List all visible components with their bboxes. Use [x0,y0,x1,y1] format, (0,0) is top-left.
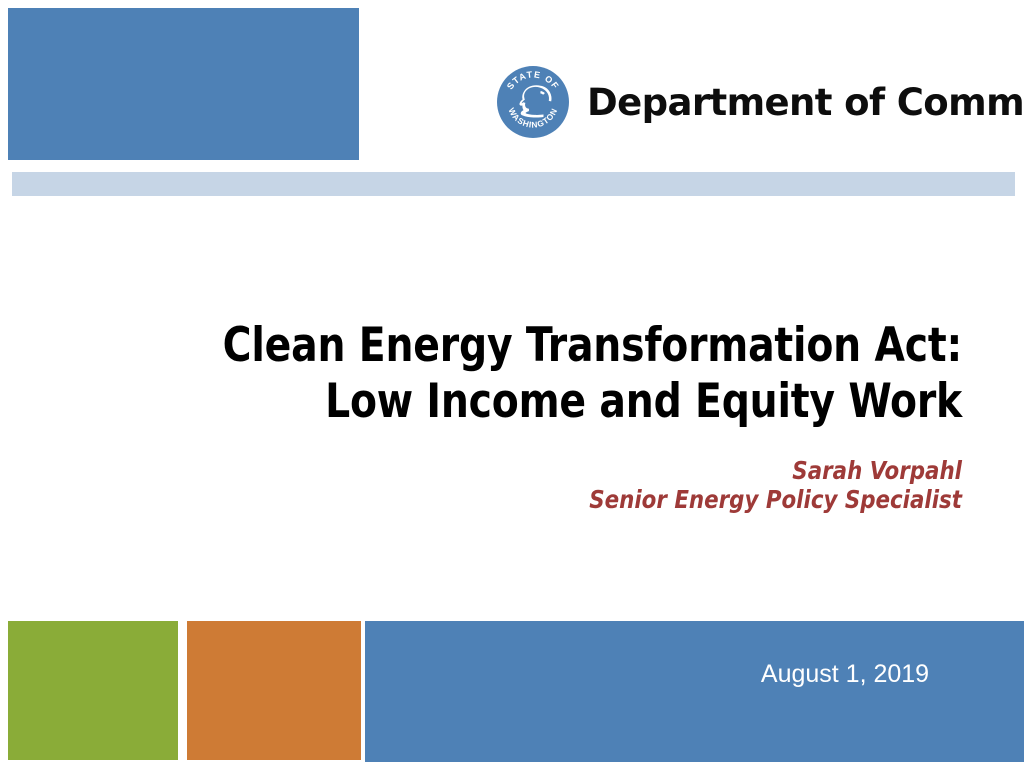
department-logo-lockup: STATE OF WASHINGTON Department of Commer… [497,66,1024,138]
presentation-date: August 1, 2019 [700,662,990,687]
footer-orange-accent-block [187,621,361,760]
presenter-role: Senior Energy Policy Specialist [105,485,962,514]
header-light-blue-strip [12,172,1015,196]
title-line-2: Low Income and Equity Work [123,374,962,430]
footer-blue-accent-block [365,621,1024,762]
presenter-byline: Sarah Vorpahl Senior Energy Policy Speci… [60,456,962,514]
top-blue-accent-block [8,8,359,160]
department-of-commerce-wordmark: Department of Commerce [587,84,1024,121]
title-line-1: Clean Energy Transformation Act: [123,318,962,374]
slide-title: Clean Energy Transformation Act: Low Inc… [60,318,962,430]
presenter-name: Sarah Vorpahl [105,456,962,485]
footer-green-accent-block [8,621,178,760]
washington-state-seal-icon: STATE OF WASHINGTON [497,66,569,138]
